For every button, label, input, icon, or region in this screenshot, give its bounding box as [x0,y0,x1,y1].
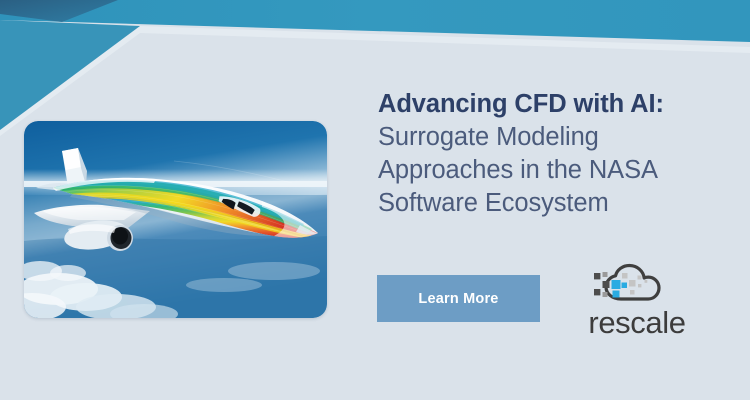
cfd-aircraft-illustration [24,121,327,318]
headline-line-3: Approaches in the NASA [378,154,718,187]
promo-banner: Advancing CFD with AI: Surrogate Modelin… [0,0,750,400]
learn-more-button[interactable]: Learn More [377,275,540,322]
headline-line-2: Surrogate Modeling [378,121,718,154]
headline-block: Advancing CFD with AI: Surrogate Modelin… [378,88,718,221]
rescale-cloud-icon [591,262,683,306]
headline: Advancing CFD with AI: Surrogate Modelin… [378,88,718,221]
rescale-logo[interactable]: rescale [573,262,701,340]
hero-image [24,121,327,318]
rescale-wordmark: rescale [588,307,685,338]
headline-line-1: Advancing CFD with AI: [378,88,718,121]
headline-line-4: Software Ecosystem [378,187,718,220]
